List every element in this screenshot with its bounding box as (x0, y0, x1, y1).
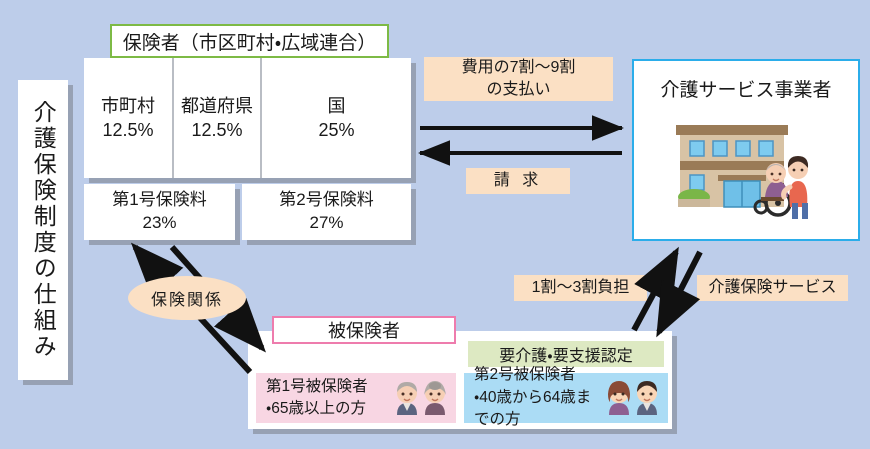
insured-group-icons (606, 381, 660, 415)
relation-ellipse: 保険関係 (128, 276, 246, 320)
relation-label-text: 保険関係 (151, 286, 223, 310)
arrow-service (659, 252, 700, 332)
insured-header-label: 被保険者 (328, 317, 400, 343)
insured-group-category1: 第1号被保険者・65歳以上の方 (256, 373, 456, 423)
insured-group-detail: ・40歳から64歳までの方 (474, 389, 591, 428)
insured-group-title: 第1号被保険者 (266, 378, 368, 395)
certification-label: 要介護・要支援認定 (468, 341, 664, 367)
insured-group-title: 第2号被保険者 (474, 366, 576, 383)
adult-man-icon (634, 381, 660, 415)
diagram-canvas: 介護保険制度の仕組み 保険者（市区町村・広域連合） 市町村 12.5% 都道府県… (0, 0, 870, 449)
elderly-woman-icon (422, 381, 448, 415)
arrow-burden (634, 252, 676, 330)
insurer-header-label: 保険者（市区町村・広域連合） (123, 28, 376, 55)
insurer-header: 保険者（市区町村・広域連合） (110, 24, 389, 58)
adult-woman-icon (606, 381, 632, 415)
insured-group-text: 第1号被保険者・65歳以上の方 (266, 376, 368, 421)
insured-group-category2: 第2号被保険者・40歳から64歳までの方 (464, 373, 668, 423)
certification-label-text: 要介護・要支援認定 (499, 342, 632, 366)
elderly-man-icon (394, 381, 420, 415)
insured-group-icons (394, 381, 448, 415)
insured-group-text: 第2号被保険者・40歳から64歳までの方 (474, 364, 606, 431)
insured-group-detail: ・65歳以上の方 (266, 400, 366, 417)
insured-header: 被保険者 (272, 316, 456, 344)
